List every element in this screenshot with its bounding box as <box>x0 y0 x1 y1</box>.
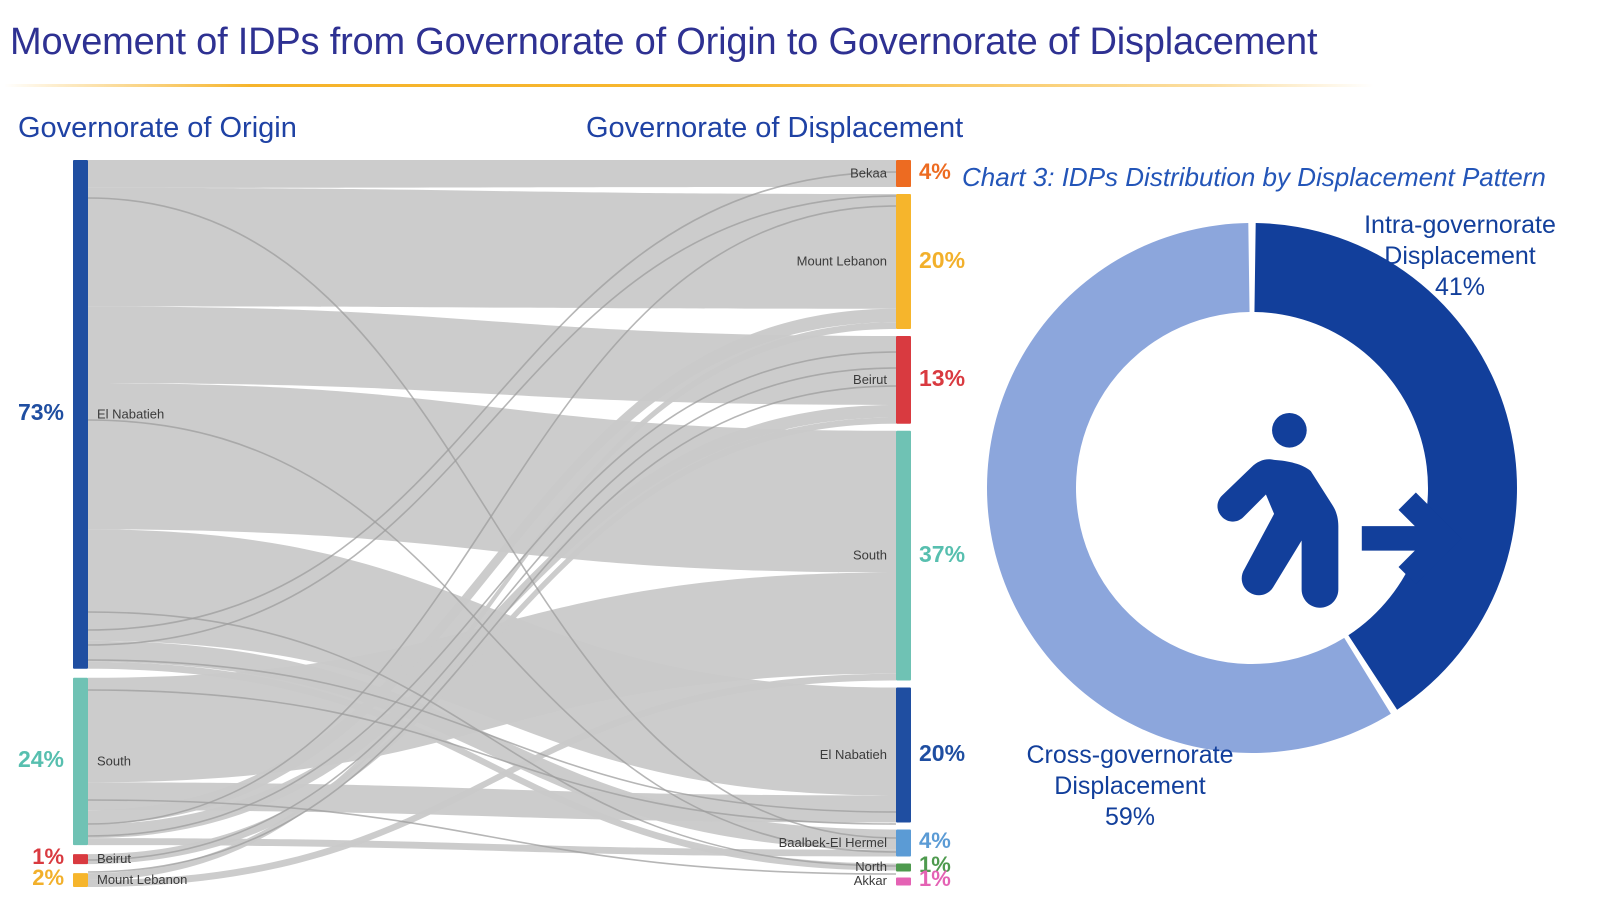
sankey-node-origin-beirut[interactable] <box>73 854 88 864</box>
sankey-node-label: El Nabatieh <box>97 406 164 421</box>
sankey-node-destination-baalbek-el-hermel[interactable] <box>896 830 911 857</box>
sankey-node-label: Beirut <box>853 372 887 387</box>
donut-label-intra-line2: Displacement <box>1330 241 1590 272</box>
sankey-percent-origin-el-nabatieh: 73% <box>8 399 64 426</box>
donut-label-intra-value: 41% <box>1330 272 1590 303</box>
sankey-diagram: El NabatiehSouthBeirutMount LebanonBekaa… <box>0 0 960 922</box>
sankey-node-label: South <box>853 548 887 563</box>
donut-label-intra-governorate: Intra-governorate Displacement 41% <box>1330 210 1590 303</box>
sankey-node-label: Mount Lebanon <box>797 254 887 269</box>
sankey-node-destination-akkar[interactable] <box>896 878 911 886</box>
sankey-node-destination-north[interactable] <box>896 864 911 872</box>
sankey-percent-origin-mount-lebanon: 2% <box>8 865 64 891</box>
sankey-node-label: El Nabatieh <box>820 747 887 762</box>
sankey-node-label: South <box>97 753 131 768</box>
sankey-node-destination-mount-lebanon[interactable] <box>896 194 911 329</box>
donut-label-cross-value: 59% <box>960 802 1300 833</box>
sankey-node-label: Beirut <box>97 851 131 866</box>
sankey-node-destination-el-nabatieh[interactable] <box>896 688 911 823</box>
sankey-link[interactable] <box>88 160 896 188</box>
sankey-node-origin-el-nabatieh[interactable] <box>73 160 88 669</box>
donut-label-cross-line2: Displacement <box>960 771 1300 802</box>
sankey-svg: El NabatiehSouthBeirutMount LebanonBekaa… <box>0 0 960 922</box>
sankey-node-origin-south[interactable] <box>73 678 88 845</box>
sankey-node-destination-south[interactable] <box>896 431 911 681</box>
sankey-node-destination-bekaa[interactable] <box>896 160 911 187</box>
sankey-link-group <box>88 160 896 887</box>
sankey-link[interactable] <box>88 188 896 309</box>
sankey-node-label: Baalbek-El Hermel <box>779 835 887 850</box>
sankey-node-origin-mount-lebanon[interactable] <box>73 873 88 887</box>
sankey-percent-origin-south: 24% <box>8 746 64 773</box>
sankey-node-label: Akkar <box>854 873 888 888</box>
donut-label-cross-governorate: Cross-governorate Displacement 59% <box>960 740 1300 833</box>
sankey-node-destination-beirut[interactable] <box>896 336 911 424</box>
donut-chart-panel: Chart 3: IDPs Distribution by Displaceme… <box>952 150 1600 910</box>
sankey-node-label: North <box>855 859 887 874</box>
donut-label-intra-line1: Intra-governorate <box>1330 210 1590 241</box>
sankey-node-label: Mount Lebanon <box>97 872 187 887</box>
chart-caption: Chart 3: IDPs Distribution by Displaceme… <box>962 162 1546 193</box>
slide-canvas: Movement of IDPs from Governorate of Ori… <box>0 0 1600 922</box>
donut-label-cross-line1: Cross-governorate <box>960 740 1300 771</box>
sankey-node-label: Bekaa <box>850 166 888 181</box>
